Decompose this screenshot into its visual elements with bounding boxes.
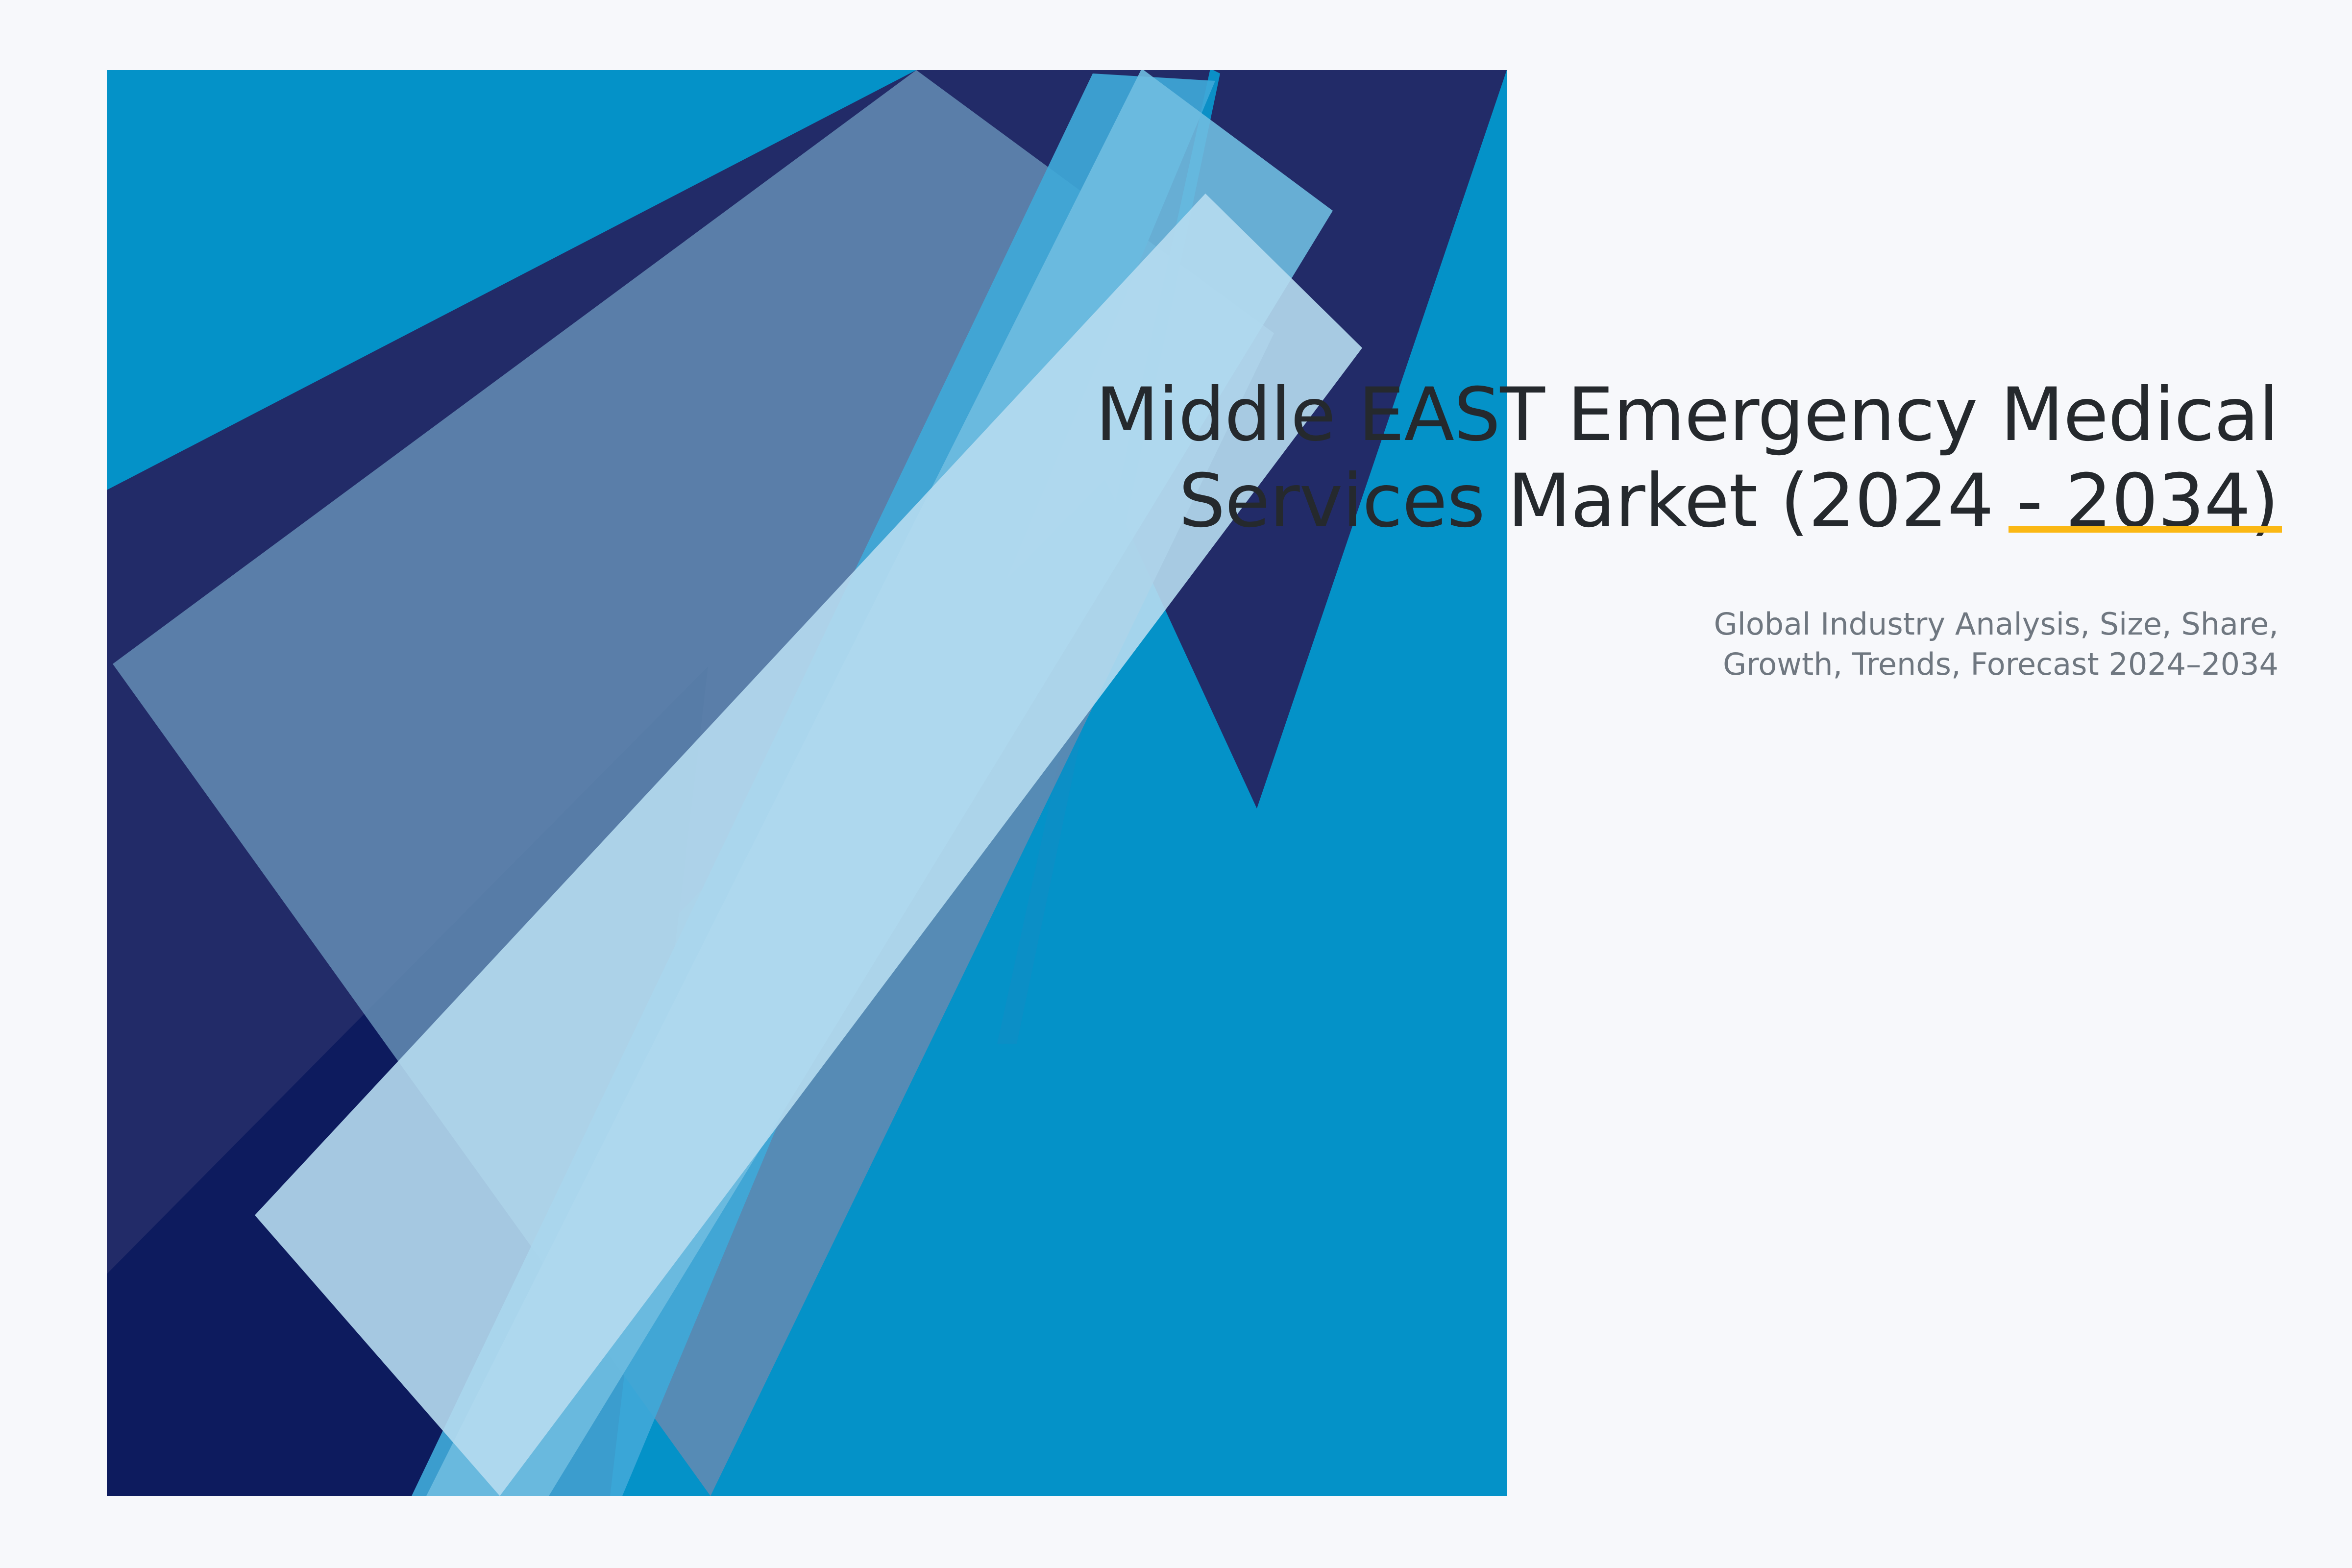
title-accent-rule <box>2009 526 2282 533</box>
cover-page: Middle EAST Emergency Medical Services M… <box>0 0 2352 1568</box>
page-subtitle: Global Industry Analysis, Size, Share, G… <box>931 544 2278 685</box>
abstract-geometric-cover-graphic <box>0 0 2352 1568</box>
page-title: Middle EAST Emergency Medical Services M… <box>931 372 2278 544</box>
